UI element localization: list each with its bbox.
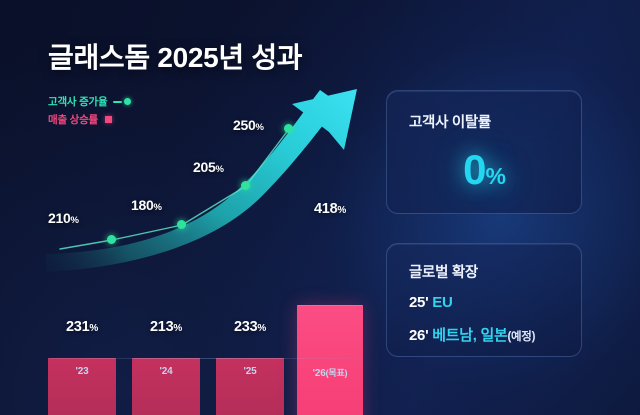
line-value-2025: 205%: [193, 159, 224, 175]
expansion-year: 26': [409, 327, 428, 344]
line-point-2026: [284, 124, 293, 133]
x-tick-2025: '25: [216, 366, 284, 377]
card-churn-rate: 고객사 이탈률 0%: [386, 90, 582, 214]
bar-value-2024: 213%: [132, 319, 200, 335]
bar-value-2023: 231%: [48, 319, 116, 335]
expansion-region: EU: [432, 294, 452, 311]
line-value-2023: 210%: [48, 210, 79, 226]
x-tick-2026-target: '26(목표): [293, 366, 367, 379]
bar-value-2025: 233%: [216, 319, 284, 335]
card-churn-value: 0%: [387, 146, 581, 194]
bar-fill: [297, 305, 363, 415]
x-tick-2024: '24: [132, 366, 200, 377]
expansion-year: 25': [409, 294, 428, 311]
x-tick-2023: '23: [48, 366, 116, 377]
line-point-2023: [107, 235, 116, 244]
bar-value-2026-target: 418%: [297, 201, 363, 217]
x-axis-line: [48, 358, 363, 359]
expansion-note: (예정): [507, 331, 535, 343]
card-global-expansion: 글로벌 확장 25' EU 26' 베트남, 일본(예정): [386, 243, 582, 357]
card-expansion-title: 글로벌 확장: [409, 261, 478, 282]
expansion-row-2026: 26' 베트남, 일본(예정): [409, 324, 535, 345]
line-point-2024: [177, 220, 186, 229]
card-churn-title: 고객사 이탈률: [409, 111, 491, 132]
line-value-2026: 250%: [233, 117, 264, 133]
chart-plot-area: 231% 213% 233% 418% 210% 180% 205% 250%: [0, 0, 380, 415]
line-value-2024: 180%: [131, 197, 162, 213]
expansion-region: 베트남, 일본: [432, 327, 507, 344]
infographic-slide: 글래스돔 2025년 성과 고객사 증가율 매출 상승률: [0, 0, 640, 415]
expansion-row-2025: 25' EU: [409, 294, 452, 311]
line-point-2025: [241, 181, 250, 190]
